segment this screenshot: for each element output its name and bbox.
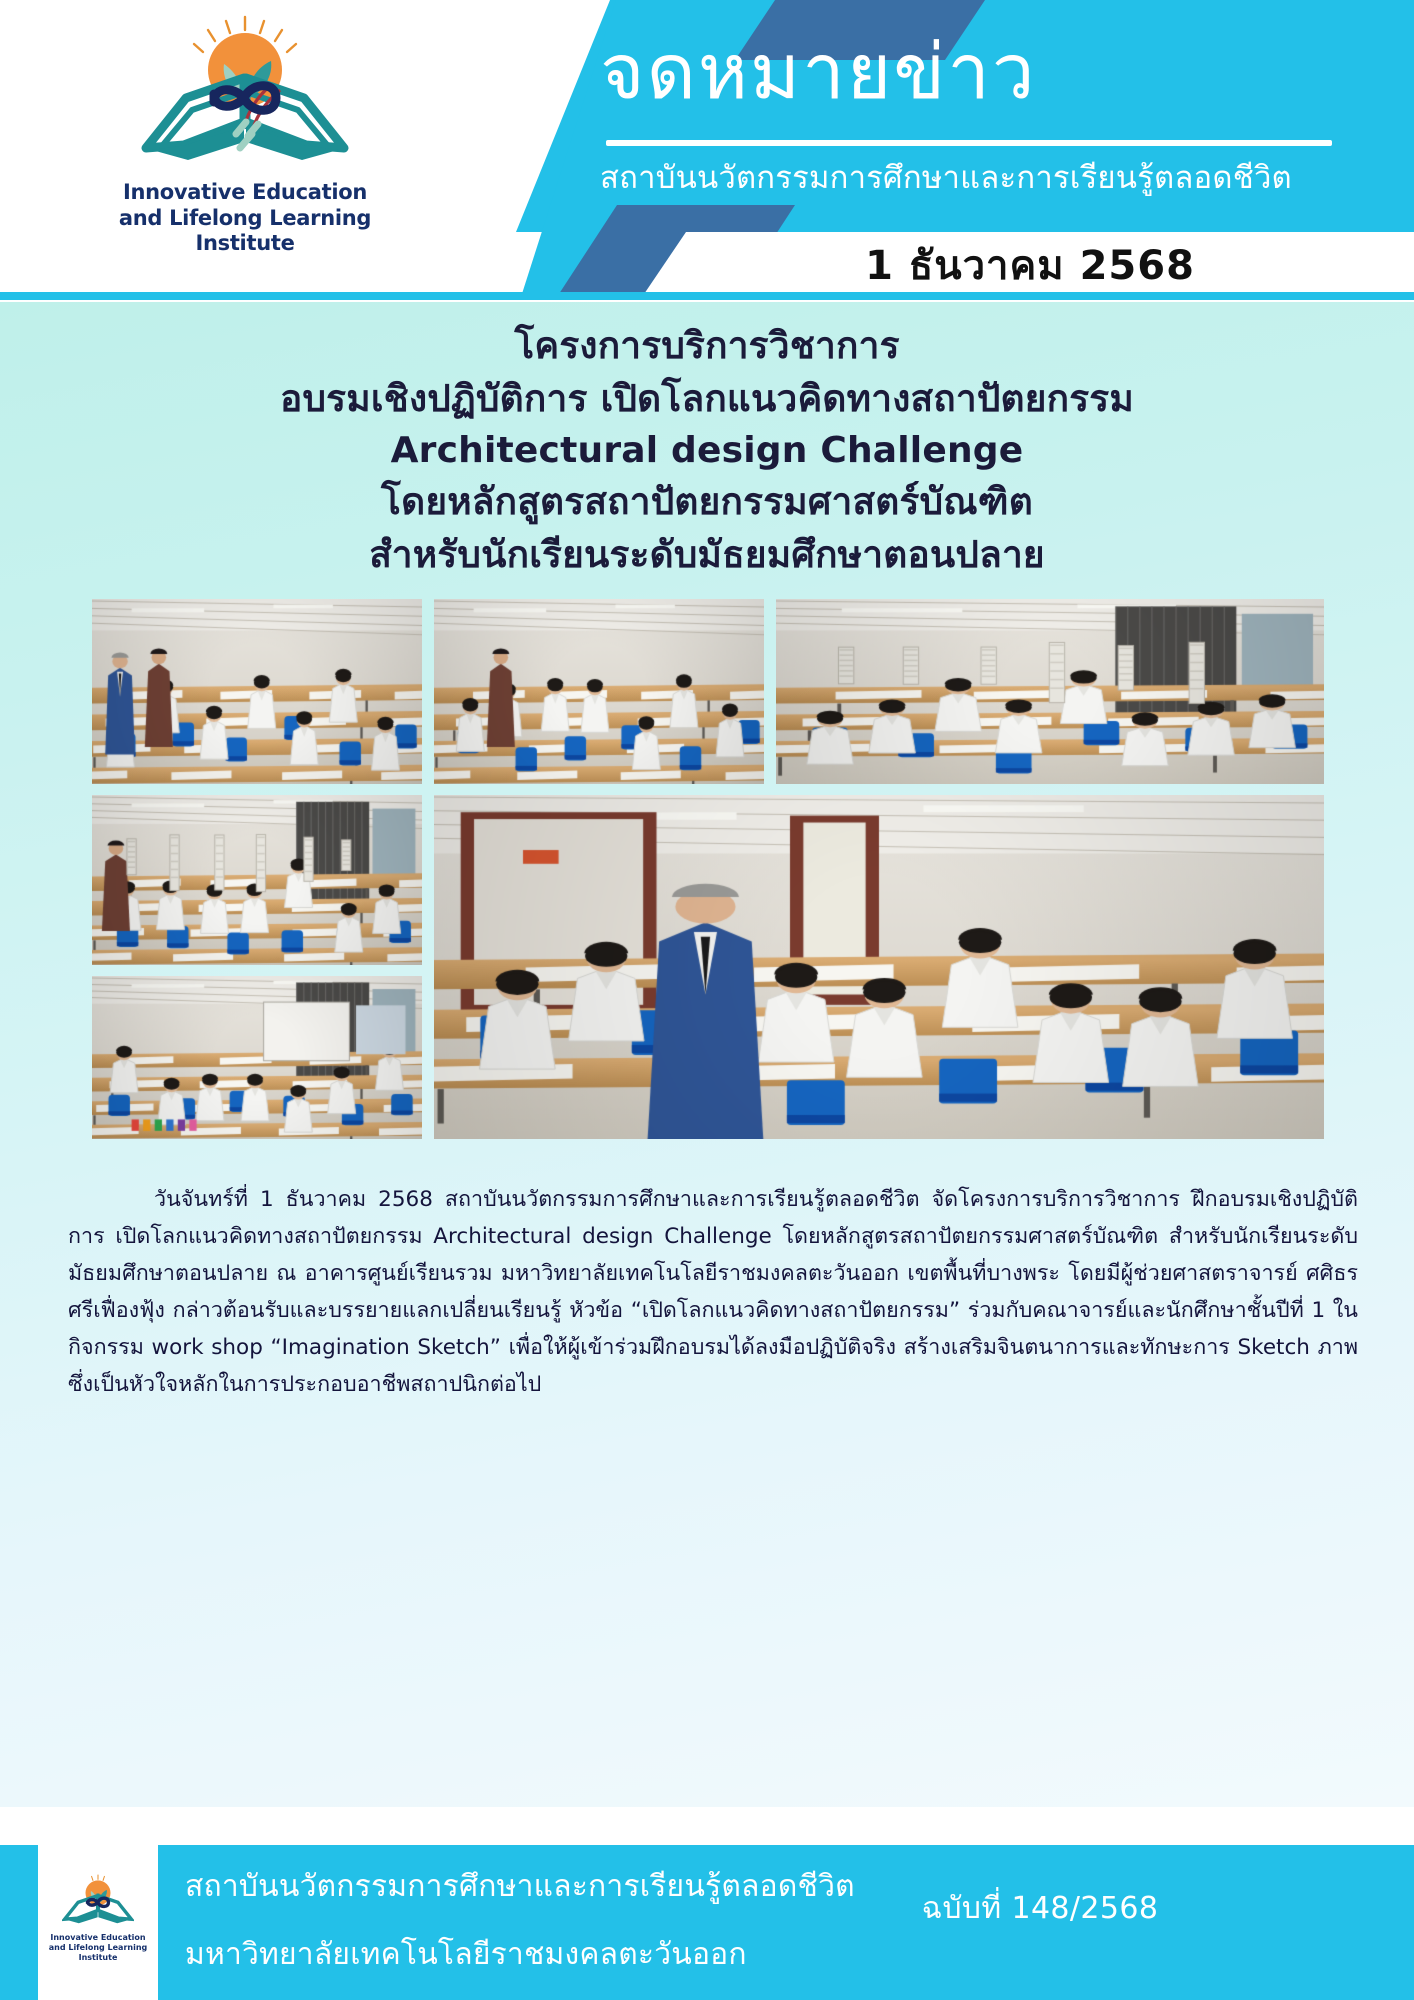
newsletter-title: จดหมายข่าว (600, 34, 1360, 110)
open-book-sun-infinity-icon (140, 14, 350, 174)
article-paragraph: วันจันทร์ที่ 1 ธันวาคม 2568 สถาบันนวัตกร… (68, 1182, 1358, 1404)
photo-student-sketching-closeup (776, 599, 1324, 784)
footer-open-book-sun-infinity-icon (62, 1874, 134, 1928)
publication-date: 1 ธันวาคม 2568 (640, 232, 1414, 298)
photo-instructor-with-students (434, 795, 1324, 1139)
event-title-line-2: อบรมเชิงปฏิบัติการ เปิดโลกแนวคิดทางสถาปั… (80, 373, 1334, 426)
logo-line-3: Institute (119, 231, 371, 257)
footer-logo-text: Innovative Education and Lifelong Learni… (49, 1933, 148, 1963)
logo-line-1: Innovative Education (119, 180, 371, 206)
footer-organization-names: สถาบันนวัตกรรมการศึกษาและการเรียนรู้ตลอด… (185, 1871, 855, 1970)
header-bottom-rule (0, 292, 1414, 300)
page-header: Innovative Education and Lifelong Learni… (0, 0, 1414, 300)
event-title-line-1: โครงการบริการวิชาการ (80, 320, 1334, 373)
photo-models-on-table (92, 795, 422, 965)
photo-students-working-desks (434, 599, 764, 784)
photo-lecture-room-front (92, 976, 422, 1139)
page-footer: Innovative Education and Lifelong Learni… (0, 1845, 1414, 2000)
footer-institute-logo: Innovative Education and Lifelong Learni… (38, 1833, 158, 2000)
header-institute-name: สถาบันนวัตกรรมการศึกษาและการเรียนรู้ตลอด… (600, 152, 1414, 202)
footer-institute-name: สถาบันนวัตกรรมการศึกษาและการเรียนรู้ตลอด… (185, 1871, 855, 1903)
event-title-line-3: Architectural design Challenge (80, 425, 1334, 476)
event-title-line-5: สำหรับนักเรียนระดับมัธยมศึกษาตอนปลาย (80, 529, 1334, 582)
content-area: โครงการบริการวิชาการ อบรมเชิงปฏิบัติการ … (0, 302, 1414, 1807)
footer-logo-line-2: and Lifelong Learning (49, 1943, 148, 1953)
photo-classroom-overview-wide (92, 599, 422, 784)
footer-logo-line-3: Institute (49, 1953, 148, 1963)
photo-gallery (92, 599, 1324, 1139)
newsletter-title-underline (606, 140, 1332, 146)
issue-number: ฉบับที่ 148/2568 (840, 1885, 1240, 1932)
event-title-line-4: โดยหลักสูตรสถาปัตยกรรมศาสตร์บัณฑิต (80, 476, 1334, 529)
footer-university-name: มหาวิทยาลัยเทคโนโลยีราชมงคลตะวันออก (185, 1939, 855, 1971)
institute-logo: Innovative Education and Lifelong Learni… (80, 14, 410, 284)
institute-logo-text: Innovative Education and Lifelong Learni… (119, 180, 371, 257)
event-title-block: โครงการบริการวิชาการ อบรมเชิงปฏิบัติการ … (80, 320, 1334, 581)
newsletter-page: Innovative Education and Lifelong Learni… (0, 0, 1414, 2000)
footer-logo-line-1: Innovative Education (49, 1933, 148, 1943)
logo-line-2: and Lifelong Learning (119, 206, 371, 232)
